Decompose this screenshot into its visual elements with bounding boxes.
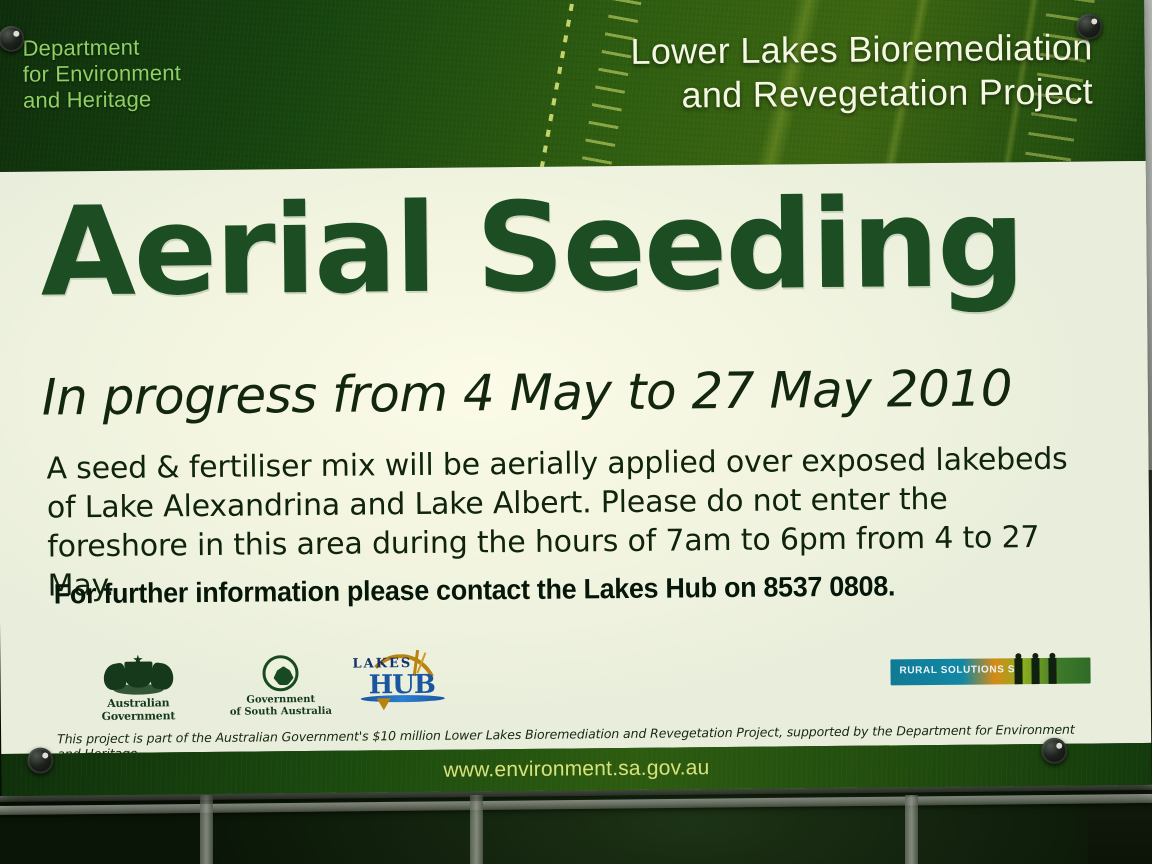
piping-shrike-icon <box>262 655 298 691</box>
sa-caption-line2: of South Australia <box>230 706 332 718</box>
sa-caption-line1: Government <box>246 694 315 706</box>
south-australia-government-logo: Government of South Australia <box>220 653 341 719</box>
sign-body-panel: Aerial Seeding In progress from 4 May to… <box>0 161 1151 754</box>
contact-line: For further information please contact t… <box>54 569 896 611</box>
mounting-bolt-bottom-right <box>1041 738 1067 764</box>
australian-government-logo: Australian Government <box>70 654 206 723</box>
coat-of-arms-icon <box>99 654 177 695</box>
south-australia-caption: Government of South Australia <box>221 694 341 719</box>
sign-subtitle: In progress from 4 May to 27 May 2010 <box>42 360 1013 425</box>
arrow-icon <box>377 698 391 710</box>
photo-scene: Department for Environment and Heritage … <box>0 0 1152 864</box>
people-silhouette-icon <box>1012 651 1068 685</box>
fence-post <box>470 795 483 864</box>
project-title: Lower Lakes Bioremediation and Revegetat… <box>630 25 1093 117</box>
rural-solutions-sa-logo: RURAL SOLUTIONS SA <box>890 658 1090 686</box>
information-sign: Department for Environment and Heritage … <box>0 0 1152 796</box>
page-title: Aerial Seeding <box>40 184 1024 313</box>
australian-government-caption: Australian Government <box>71 696 206 723</box>
sign-header-band: Department for Environment and Heritage … <box>0 0 1146 172</box>
department-logotype: Department for Environment and Heritage <box>22 34 181 114</box>
fence-post <box>200 795 213 864</box>
fence-post <box>905 795 918 864</box>
rural-solutions-caption: RURAL SOLUTIONS SA <box>899 664 1023 676</box>
mounting-bolt-bottom-left <box>27 747 53 773</box>
mounting-bolt-top-right <box>1076 13 1102 39</box>
water-wave-icon <box>361 695 445 703</box>
logo-strip: Australian Government Government of Sout… <box>60 646 1091 722</box>
lakes-hub-logo: LAKES HUB <box>350 648 461 711</box>
